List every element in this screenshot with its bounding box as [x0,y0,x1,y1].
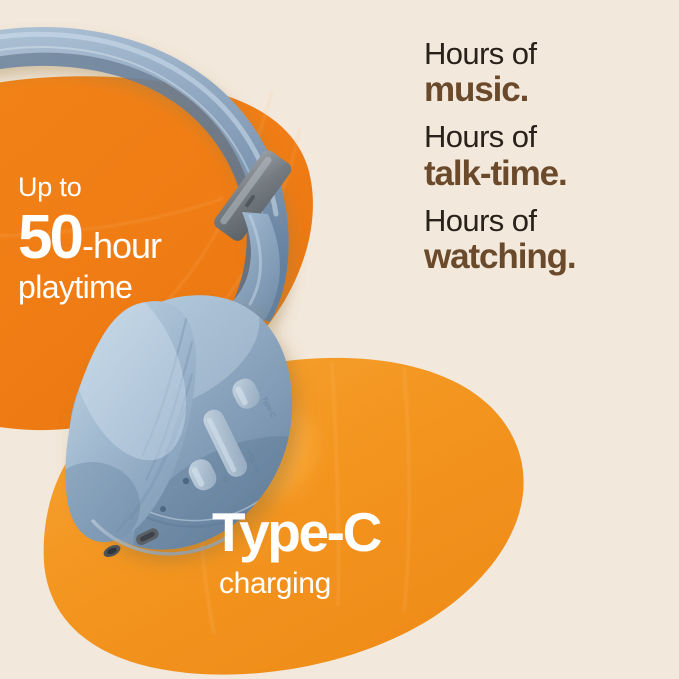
led-indicator [183,478,189,484]
hours-value-talk-time: talk-time. [424,154,576,193]
hours-group-watching: Hours of watching. [424,205,576,276]
playtime-unit: -hour [82,225,161,266]
type-c-subline: charging [219,569,380,599]
hours-value-watching: watching. [424,237,576,276]
hours-of-label-1: Hours of [424,38,576,70]
playtime-subject: playtime [18,271,161,303]
hours-group-talk-time: Hours of talk-time. [424,121,576,192]
hours-of-label-2: Hours of [424,121,576,153]
playtime-number: 50 [18,203,81,272]
hours-of-label-3: Hours of [424,205,576,237]
microphone-hole [160,506,166,512]
hours-text-stack: Hours of music. Hours of talk-time. Hour… [424,38,576,276]
product-image-canvas: Type-C VOL +/- M [0,0,679,679]
hours-group-music: Hours of music. [424,38,576,109]
hours-value-music: music. [424,70,576,109]
type-c-headline: Type-C [212,505,380,560]
type-c-callout: Type-C charging [212,505,380,599]
playtime-callout: Up to 50-hour playtime [18,174,161,303]
artboard: Type-C VOL +/- M [0,0,679,679]
playtime-eyebrow: Up to [18,174,161,201]
playtime-headline: 50-hour [18,207,161,263]
